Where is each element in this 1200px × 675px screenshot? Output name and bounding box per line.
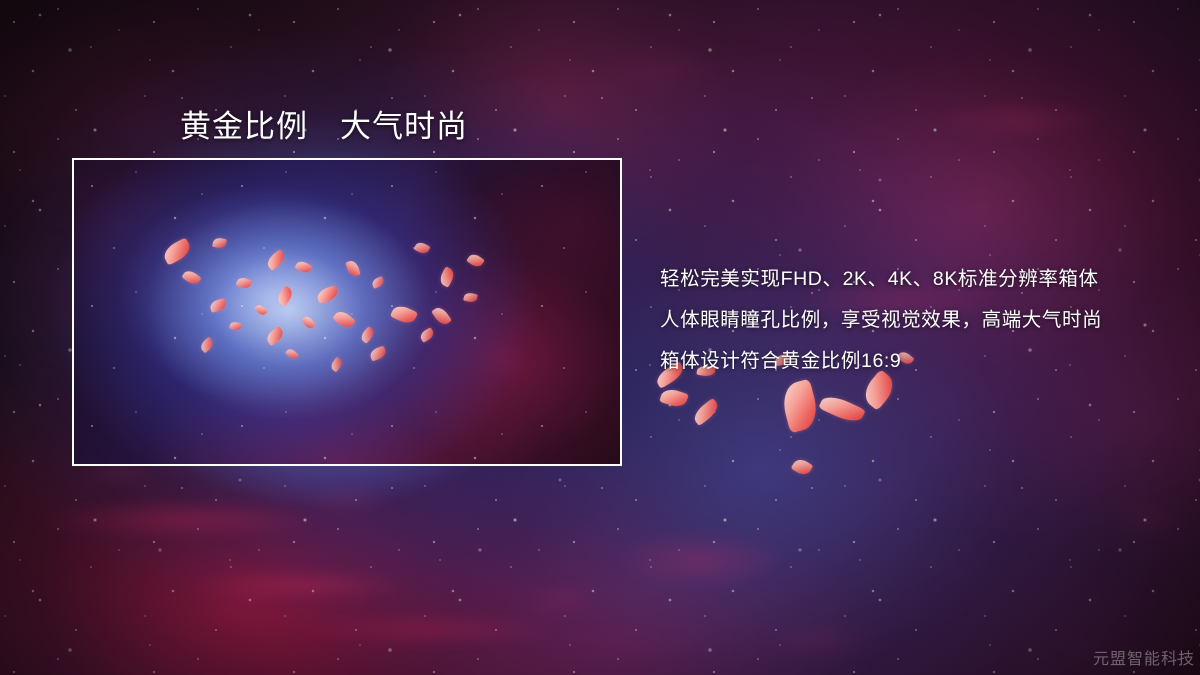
petal-icon [818,392,865,427]
petal-icon [659,386,689,409]
petal-icon [691,398,722,426]
presentation-slide: 黄金比例 大气时尚 轻松完美实现FHD、2K、4K、8K标准分辨率箱体 人体眼睛… [0,0,1200,675]
page-title: 黄金比例 大气时尚 [180,101,468,146]
watermark: 元盟智能科技 [1093,645,1195,669]
body-line: 轻松完美实现FHD、2K、4K、8K标准分辨率箱体 [660,259,1180,300]
body-copy-block: 轻松完美实现FHD、2K、4K、8K标准分辨率箱体 人体眼睛瞳孔比例，享受视觉效… [660,259,1180,382]
petal-icon [778,379,821,434]
petal-icon [791,456,814,477]
photo-starfield-icon [74,160,620,464]
body-line: 人体眼睛瞳孔比例，享受视觉效果，高端大气时尚 [660,300,1180,341]
body-line: 箱体设计符合黄金比例16:9 [660,341,1180,382]
framed-galaxy-photo [72,158,622,466]
